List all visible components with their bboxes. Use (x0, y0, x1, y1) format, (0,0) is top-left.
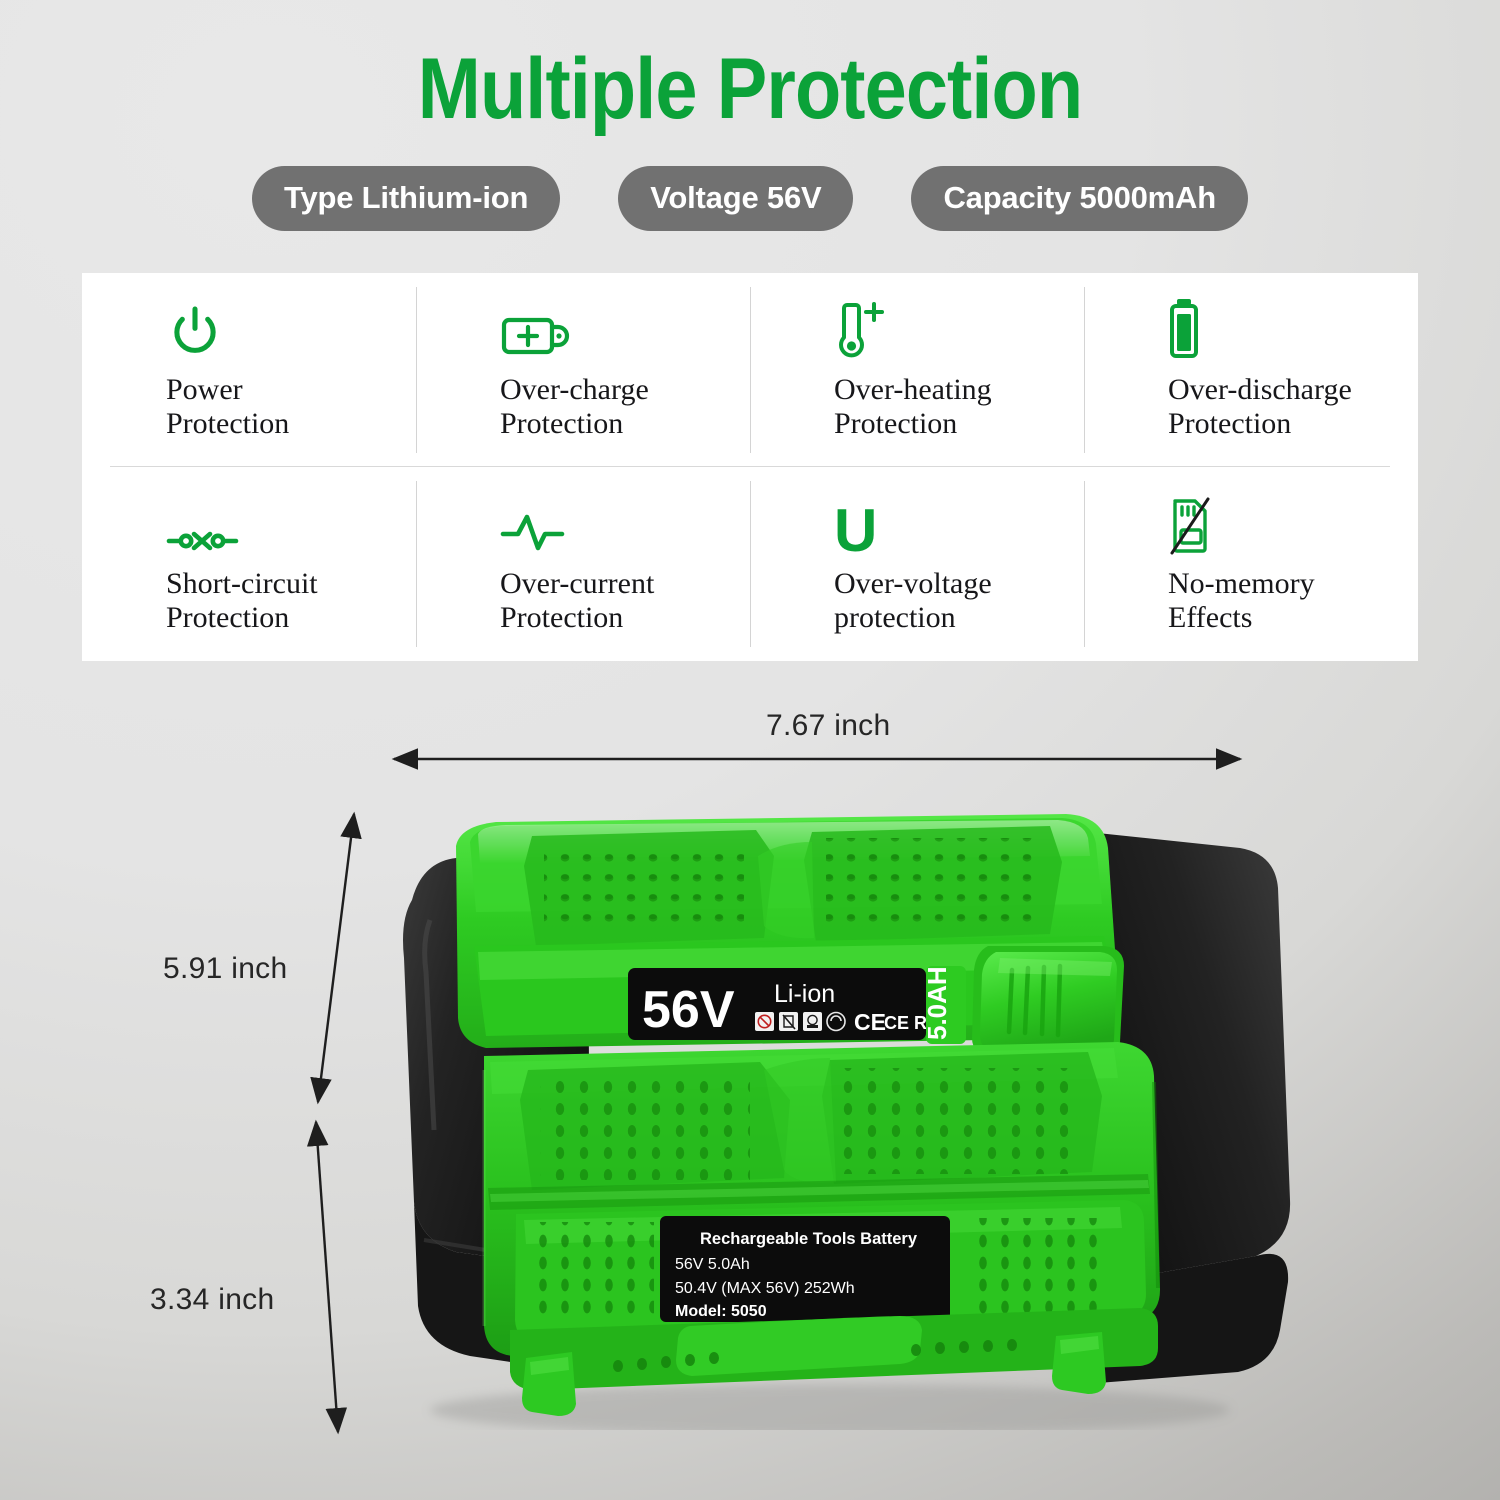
svg-text:CE: CE (854, 1009, 886, 1035)
feature-label: Over-heating Protection (834, 373, 1084, 441)
label-chemistry-text: Li-ion (774, 980, 835, 1008)
power-icon (166, 299, 416, 361)
feature-label: Short-circuit Protection (166, 567, 416, 635)
feature-label: Over-discharge Protection (1168, 373, 1418, 441)
dimension-depth-label: 3.34 inch (150, 1283, 274, 1317)
feature-short-circuit-protection: Short-circuit Protection (82, 467, 416, 661)
battery-product-image: 56V Li-ion CE CE RoHS (360, 770, 1310, 1430)
badge-voltage: Voltage 56V (618, 166, 853, 231)
battery-top-label: 56V Li-ion CE CE RoHS (628, 966, 966, 1044)
feature-label: Over-charge Protection (500, 373, 750, 441)
height-arrow (318, 814, 354, 1102)
page-title: Multiple Protection (90, 46, 1410, 132)
battery-full-icon (1168, 299, 1418, 361)
feature-label: Power Protection (166, 373, 416, 441)
waveform-icon (500, 493, 750, 555)
spec-badge-row: Type Lithium-ion Voltage 56V Capacity 50… (0, 166, 1500, 231)
dimension-width-label: 7.67 inch (766, 709, 890, 743)
protection-feature-card: Power Protection Over-charge Protection (82, 273, 1418, 661)
battery-plus-icon (500, 299, 750, 361)
thermometer-plus-icon (834, 299, 1084, 361)
feature-no-memory-effects: No-memory Effects (1084, 467, 1418, 661)
depth-arrow (316, 1122, 338, 1432)
feature-label: Over-current Protection (500, 567, 750, 635)
feature-row-2: Short-circuit Protection Over-current Pr… (82, 467, 1418, 661)
feature-over-discharge-protection: Over-discharge Protection (1084, 273, 1418, 467)
memory-card-slash-icon (1168, 493, 1418, 555)
spec-line-4: Model: 5050 (675, 1303, 767, 1320)
dimension-height-label: 5.91 inch (163, 952, 287, 986)
letter-u-icon: U (834, 493, 1084, 555)
feature-label: No-memory Effects (1168, 567, 1418, 635)
feature-row-1: Power Protection Over-charge Protection (82, 273, 1418, 467)
label-voltage-text: 56V (642, 981, 735, 1039)
product-infographic: Multiple Protection Type Lithium-ion Vol… (0, 0, 1500, 1500)
feature-over-current-protection: Over-current Protection (416, 467, 750, 661)
letter-u-glyph: U (834, 506, 877, 555)
short-circuit-icon (166, 493, 416, 555)
feature-over-heating-protection: Over-heating Protection (750, 273, 1084, 467)
feature-power-protection: Power Protection (82, 273, 416, 467)
label-capacity-tab-text: 5.0AH (922, 966, 952, 1040)
feature-over-charge-protection: Over-charge Protection (416, 273, 750, 467)
battery-spec-label: Rechargeable Tools Battery 56V 5.0Ah 50.… (660, 1216, 950, 1322)
badge-capacity: Capacity 5000mAh (911, 166, 1248, 231)
feature-label: Over-voltage protection (834, 567, 1084, 635)
spec-line-2: 56V 5.0Ah (675, 1256, 750, 1273)
spec-line-1: Rechargeable Tools Battery (700, 1230, 918, 1248)
feature-over-voltage-protection: U Over-voltage protection (750, 467, 1084, 661)
badge-type: Type Lithium-ion (252, 166, 560, 231)
spec-line-3: 50.4V (MAX 56V) 252Wh (675, 1280, 855, 1297)
